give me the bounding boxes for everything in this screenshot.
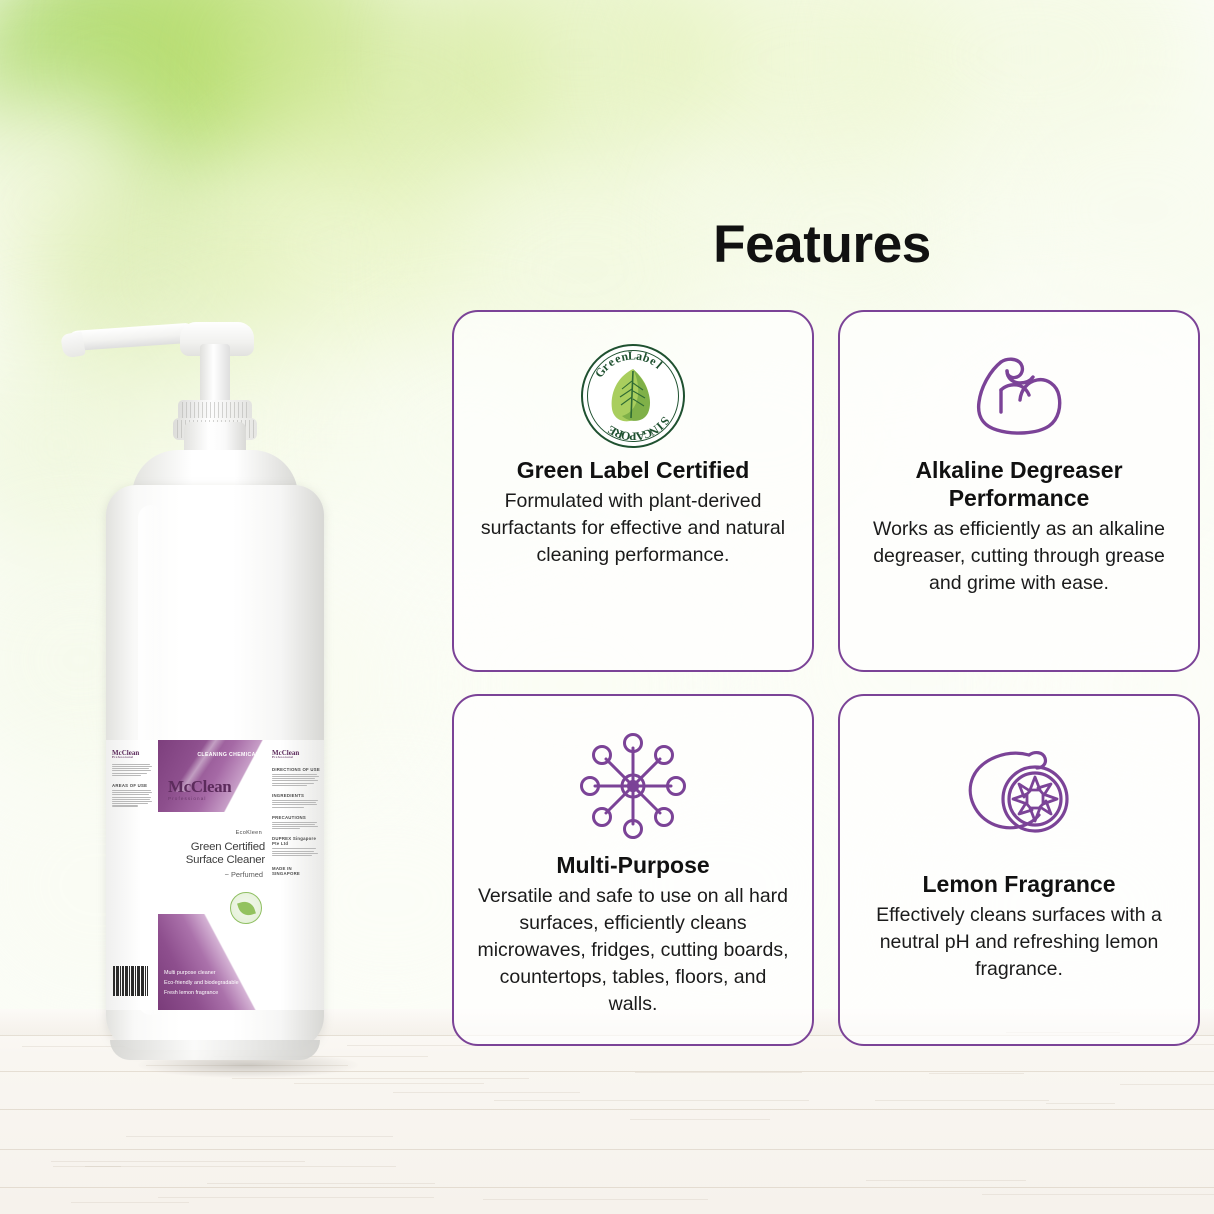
brand-subtitle: Professional (168, 796, 231, 801)
card-title: Multi-Purpose (556, 851, 709, 879)
label-bullet: Eco-friendly and biodegradable (164, 978, 239, 988)
card-title: Lemon Fragrance (923, 870, 1116, 898)
label-product-name-line1: Green Certified (191, 841, 265, 853)
bottle-base (110, 1040, 320, 1060)
multipurpose-icon-slot (577, 720, 689, 851)
product-bottle: McClean Professional AREAS OF USE (60, 300, 400, 1070)
label-right-brand: McClean Professional (272, 750, 320, 760)
green-label-icon-slot: GreenLabel SINGAPORE (581, 336, 685, 456)
card-body: Versatile and safe to use on all hard su… (476, 883, 790, 1018)
label-right-panel: McClean Professional DIRECTIONS OF USE I… (268, 740, 324, 1010)
bicep-icon-slot (971, 336, 1067, 456)
green-label-singapore-logo: GreenLabel SINGAPORE (581, 344, 685, 448)
label-bullet: Multi purpose cleaner (164, 968, 239, 978)
card-title: Green Label Certified (517, 456, 750, 484)
hub-and-spoke-network-icon (577, 730, 689, 842)
lemon-slice-icon (963, 743, 1075, 847)
origin-text: MADE IN SINGAPORE (272, 866, 320, 876)
ingredients-heading: INGREDIENTS (272, 793, 320, 798)
label-bullets: Multi purpose cleaner Eco-friendly and b… (164, 968, 239, 998)
feature-card-green-label[interactable]: GreenLabel SINGAPORE Green Label Certifi… (452, 310, 814, 672)
page-title: Features (430, 214, 1214, 275)
label-left-brand: McClean Professional (112, 750, 154, 760)
label-range: EcoKleen (236, 830, 262, 836)
brand-name: McClean (168, 778, 231, 795)
card-body: Formulated with plant-derived surfactant… (476, 488, 790, 569)
label-variant: ~ Perfumed (225, 870, 263, 879)
features-panel: Features GreenLabel SINGAPORE (430, 0, 1214, 1214)
eco-badge-icon (230, 892, 262, 924)
lemon-icon-slot (963, 720, 1075, 870)
card-body: Effectively cleans surfaces with a neutr… (862, 902, 1176, 983)
precautions-heading: PRECAUTIONS (272, 815, 320, 820)
leaf-icon (602, 365, 664, 427)
company-name: DUPREX Singapore Pte Ltd (272, 836, 320, 846)
card-body: Works as efficiently as an alkaline degr… (862, 516, 1176, 597)
card-title: Alkaline Degreaser Performance (862, 456, 1176, 512)
feature-card-alkaline-degreaser[interactable]: Alkaline Degreaser Performance Works as … (838, 310, 1200, 672)
label-left-panel: McClean Professional AREAS OF USE (106, 740, 158, 1010)
pump-spout (67, 323, 192, 352)
label-product-name-line2: Surface Cleaner (186, 854, 265, 866)
directions-heading: DIRECTIONS OF USE (272, 767, 320, 772)
pump-spout-tip (60, 331, 86, 358)
label-category-banner: CLEANING CHEMICALS (197, 752, 263, 758)
label-bullet: Fresh lemon fragrance (164, 988, 239, 998)
areas-of-use-heading: AREAS OF USE (112, 783, 154, 788)
flexed-bicep-icon (971, 350, 1067, 442)
feature-card-grid: GreenLabel SINGAPORE Green Label Certifi… (452, 310, 1200, 1068)
feature-card-lemon-fragrance[interactable]: Lemon Fragrance Effectively cleans surfa… (838, 694, 1200, 1046)
product-label: McClean Professional AREAS OF USE (106, 740, 324, 1010)
feature-card-multi-purpose[interactable]: Multi-Purpose Versatile and safe to use … (452, 694, 814, 1046)
pump-stem (200, 344, 230, 406)
label-brand-logo: McClean Professional (168, 778, 231, 801)
label-front-panel: CLEANING CHEMICALS McClean Professional … (158, 740, 268, 1010)
infographic-canvas: McClean Professional AREAS OF USE (0, 0, 1214, 1214)
barcode (113, 966, 147, 996)
